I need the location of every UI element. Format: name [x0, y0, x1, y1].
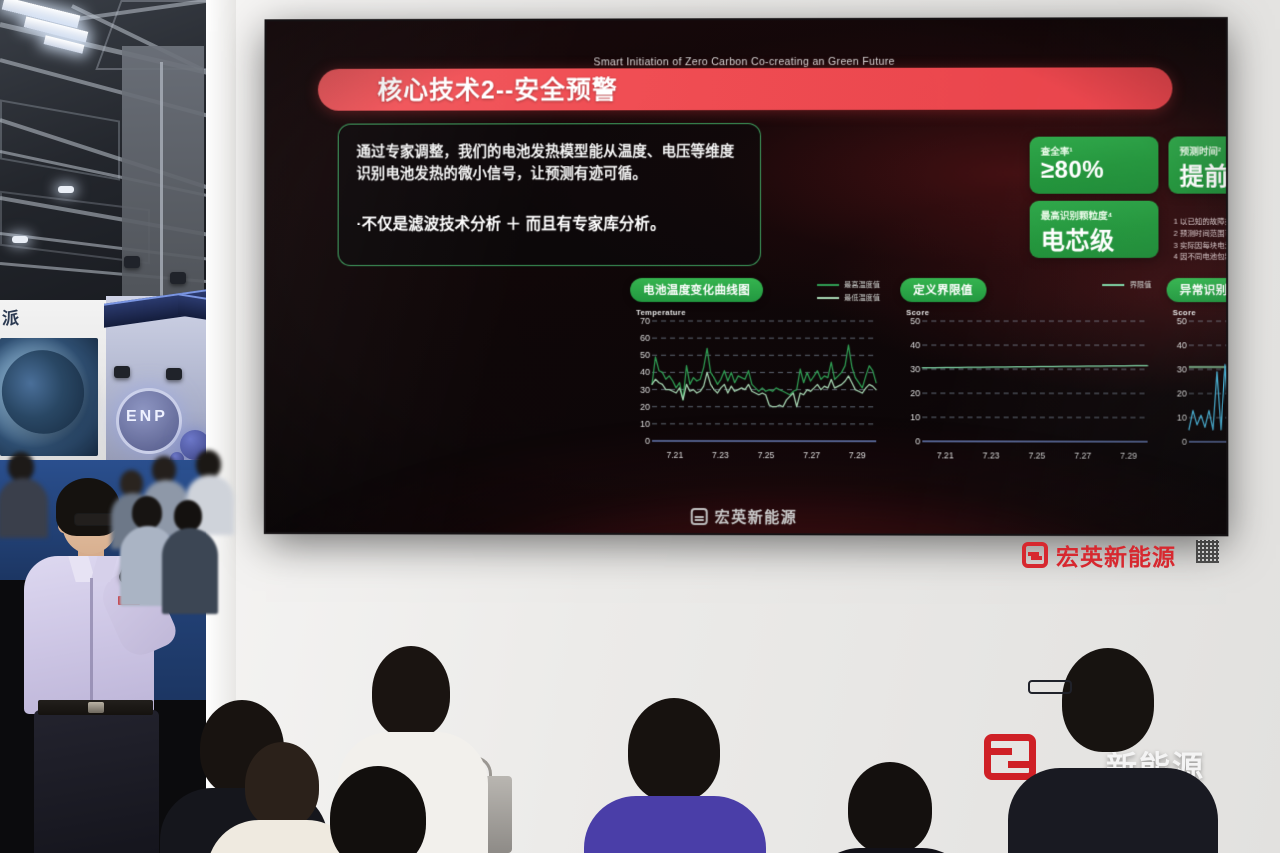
spotlight — [124, 256, 140, 268]
chart-plot-area — [900, 318, 1151, 445]
x-tick-label: 7.29 — [849, 450, 866, 460]
legend-item: 最低温度值 — [817, 293, 880, 303]
chart-title-pill: 电池温度变化曲线图 — [630, 278, 763, 302]
body-bullet: ·不仅是滤波技术分析 ＋ 而且有专家库分析。 — [356, 212, 750, 234]
kpi-label: 最高识别颗粒度⁴ — [1041, 208, 1113, 222]
footnote-4: 4 因不同电池包制造规格和数据质量而有不同。 — [1174, 251, 1227, 263]
glasses-icon — [1028, 680, 1072, 694]
slide-footer-brand: 宏英新能源 — [691, 506, 798, 527]
legend-swatch — [1103, 284, 1125, 286]
chart-title: 电池温度变化曲线图 — [643, 282, 750, 298]
vertical-pole — [160, 62, 163, 302]
x-tick-label: 7.25 — [1028, 451, 1045, 461]
presenter-trousers — [34, 710, 159, 853]
ceiling-lamp — [12, 236, 28, 243]
legend-label: 最低温度值 — [844, 293, 880, 303]
kpi-label: 预测时间² — [1180, 143, 1222, 157]
legend-label: 界限值 — [1130, 280, 1152, 290]
wall-brand-logo: 宏英新能源 — [1022, 538, 1176, 572]
chart-title: 定义界限值 — [913, 282, 973, 298]
slide-title-banner: 核心技术2--安全预警 — [318, 67, 1173, 110]
kpi-card-recall: 查全率¹ ≥80% — [1030, 137, 1159, 194]
chart-x-ticks: 7.217.237.257.277.29 — [652, 450, 880, 464]
brand-name: 宏英新能源 — [715, 506, 798, 527]
legend-label: 最高温度值 — [844, 280, 880, 290]
exhibition-hall-photo: 派 ENP Smart Initiation of — [0, 0, 1280, 853]
ceiling-lamp — [58, 186, 74, 193]
chart-battery-temperature: 电池温度变化曲线图 最高温度值 最低温度值 Temperature 010203… — [630, 278, 880, 483]
x-tick-label: 7.27 — [803, 450, 820, 460]
booth-sign-logo-icon — [984, 734, 1036, 780]
x-tick-label: 7.23 — [983, 450, 1000, 460]
chart-legend: 界限值 — [1103, 280, 1152, 293]
footnote-2: 2 预测时间范围可依据需求调整，以实际结果为准。 — [1174, 228, 1227, 240]
enp-logo-text: ENP — [126, 408, 168, 426]
chart-legend: 最高温度值 最低温度值 — [817, 280, 880, 306]
body-paragraph: 通过专家调整，我们的电池发热模型能从温度、电压等维度识别电池发热的微小信号，让预… — [357, 142, 747, 186]
x-tick-label: 7.23 — [712, 450, 729, 460]
legend-swatch — [817, 297, 839, 299]
belt-buckle — [88, 702, 104, 713]
kpi-value: 电芯级 — [1041, 221, 1115, 256]
chart-plot-area — [630, 318, 880, 444]
x-tick-label: 7.25 — [758, 450, 775, 460]
brand-mark-icon — [1022, 542, 1048, 568]
spotlight — [170, 272, 186, 284]
presenter-shirt-placket — [90, 578, 93, 714]
led-presentation-screen: Smart Initiation of Zero Carbon Co-creat… — [266, 19, 1227, 534]
chart-threshold-definition: 定义界限值 界限值 Score 01020304050 7.217.237.25… — [900, 278, 1151, 484]
kpi-label: 查全率¹ — [1041, 144, 1073, 158]
qr-code-icon — [1196, 540, 1219, 563]
chart-anomaly-prediction: 异常识别预测图 界限值 Score 01020304050 — [1167, 278, 1227, 484]
brand-mark-icon — [691, 508, 708, 525]
left-booth-logo: 派 — [2, 304, 20, 329]
x-tick-label: 7.29 — [1120, 451, 1137, 461]
spotlight — [114, 366, 130, 378]
x-tick-label: 7.21 — [666, 450, 683, 460]
brand-name: 宏英新能源 — [1056, 538, 1176, 572]
chart-title-pill: 异常识别预测图 — [1167, 278, 1227, 302]
chart-plot-area — [1167, 318, 1227, 445]
chart-title: 异常识别预测图 — [1180, 282, 1227, 298]
x-tick-label: 7.27 — [1074, 451, 1091, 461]
slide-footnotes: 1 以已知的故障类型为基础，实际因场景和电池材料不同有区别 。 2 预测时间范围… — [1174, 216, 1227, 264]
legend-swatch — [817, 284, 839, 286]
footnote-1: 1 以已知的故障类型为基础，实际因场景和电池材料不同有区别 。 — [1174, 216, 1227, 228]
chart-title-pill: 定义界限值 — [900, 278, 986, 302]
kpi-card-lead-time: 预测时间² 提前7天 — [1168, 136, 1226, 193]
legend-item: 界限值 — [1103, 280, 1152, 290]
chart-x-ticks — [1189, 451, 1226, 465]
kpi-value: 提前7天 — [1180, 156, 1227, 191]
slide-title: 核心技术2--安全预警 — [377, 71, 617, 107]
footnote-3: 3 实际因每块电池的使用场景不同而有差异。 — [1174, 239, 1227, 251]
kpi-card-granularity: 最高识别颗粒度⁴ 电芯级 — [1030, 201, 1159, 258]
slide-body-card: 通过专家调整，我们的电池发热模型能从温度、电压等维度识别电池发热的微小信号，让预… — [338, 123, 761, 266]
chart-x-ticks: 7.217.237.257.277.29 — [922, 450, 1151, 464]
legend-item: 最高温度值 — [817, 280, 880, 290]
kpi-value: ≥80% — [1041, 157, 1105, 185]
spotlight — [166, 368, 182, 380]
x-tick-label: 7.21 — [937, 450, 954, 460]
